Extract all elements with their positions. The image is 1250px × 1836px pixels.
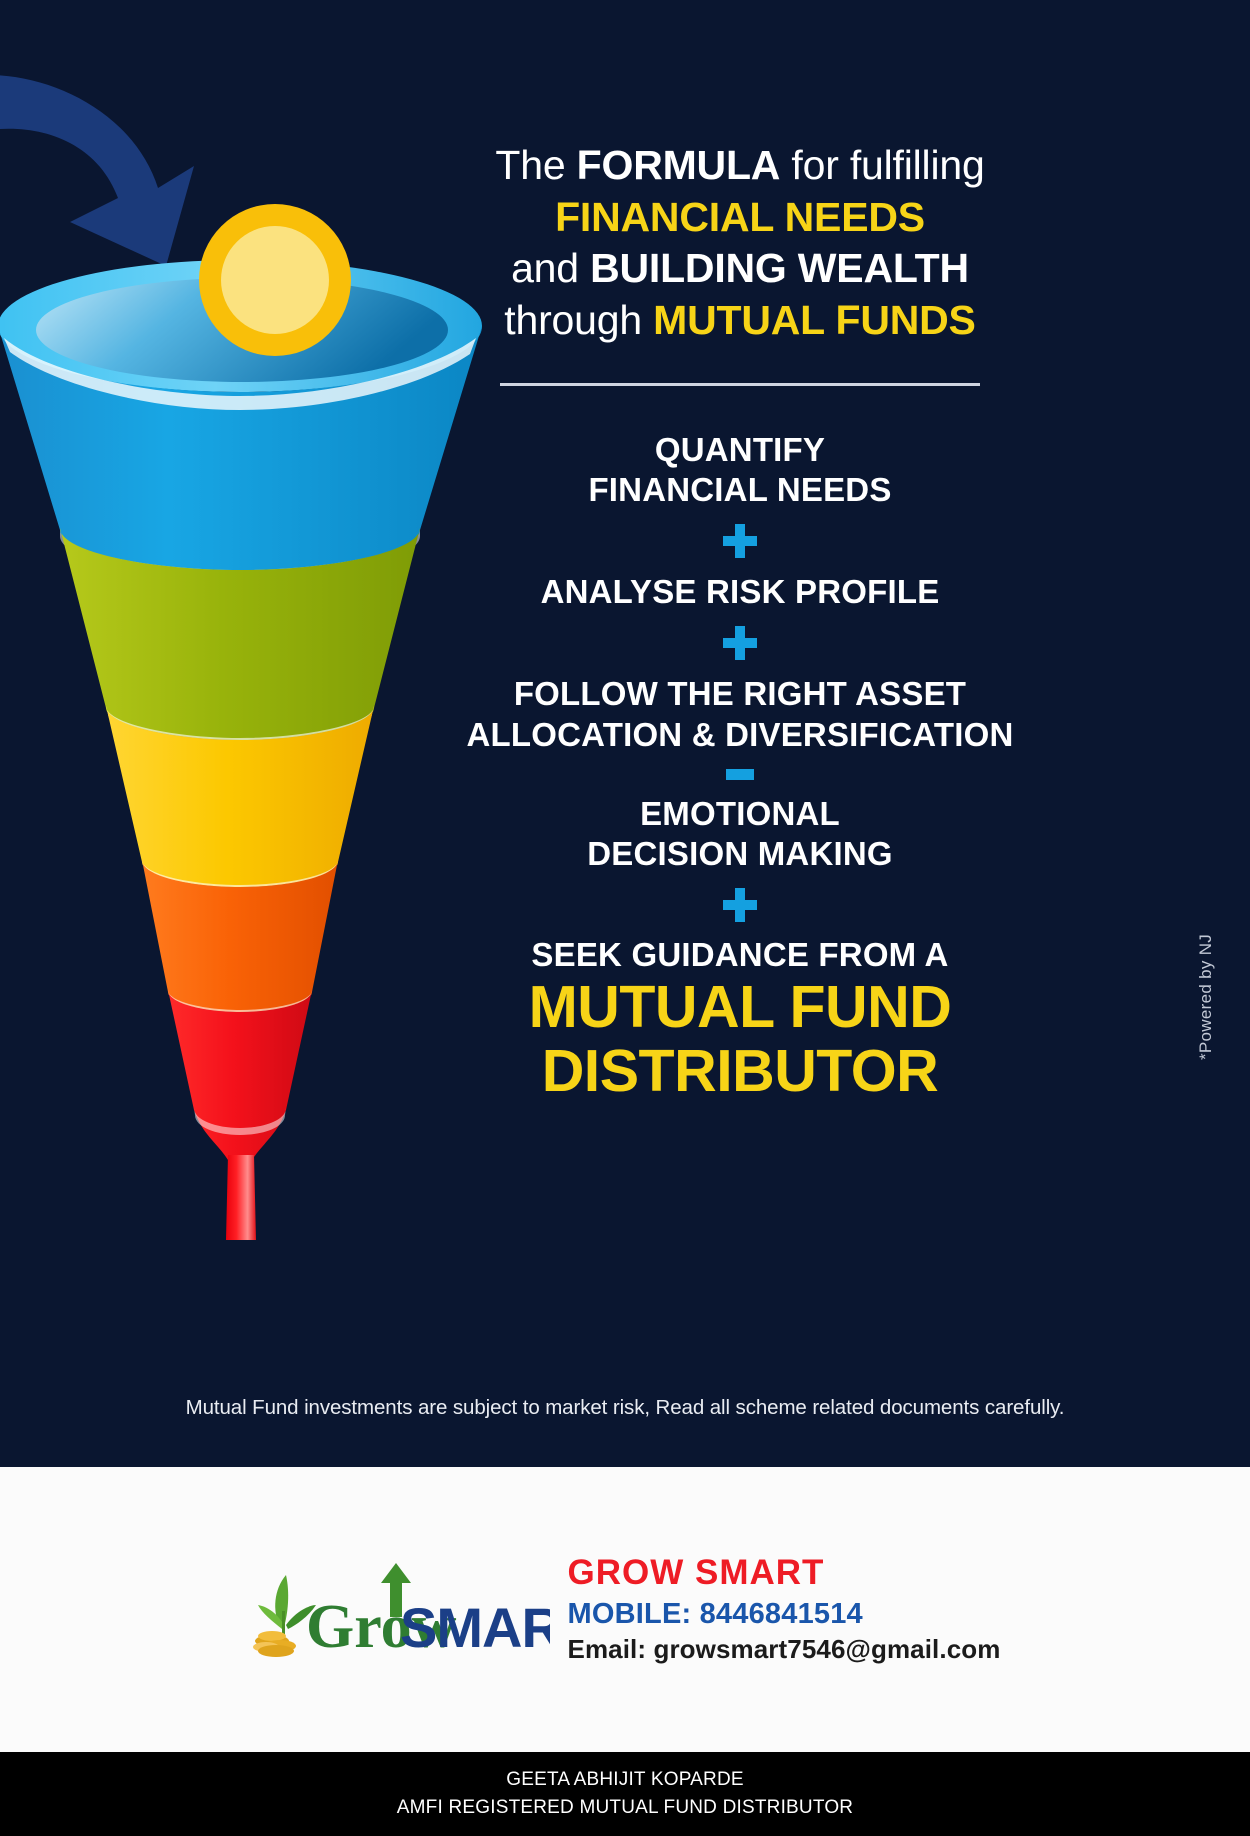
funnel-graphic	[0, 230, 490, 1240]
gold-coin-icon	[195, 200, 355, 360]
hero-section: The FORMULA for fulfilling FINANCIAL NEE…	[0, 0, 1250, 1467]
minus-icon	[726, 769, 754, 780]
headline-financial-needs: FINANCIAL NEEDS	[555, 194, 925, 240]
step-line: FINANCIAL NEEDS	[430, 470, 1050, 510]
final-distributor: MUTUAL FUND DISTRIBUTOR	[430, 976, 1050, 1103]
contact-brand-name: GROW SMART	[568, 1555, 1001, 1592]
headline-line-3: and BUILDING WEALTH	[430, 243, 1050, 295]
footer-contact-band: Grow SMART GROW SMART MOBILE: 8446841514…	[0, 1467, 1250, 1752]
powered-by-label: *Powered by NJ	[1196, 934, 1216, 1060]
step-line: EMOTIONAL	[430, 794, 1050, 834]
step-line: ALLOCATION & DIVERSIFICATION	[430, 715, 1050, 755]
contact-mobile[interactable]: MOBILE: 8446841514	[568, 1599, 1001, 1629]
headline-line-2: FINANCIAL NEEDS	[430, 192, 1050, 244]
plus-icon	[723, 626, 757, 660]
step-asset-allocation: FOLLOW THE RIGHT ASSET ALLOCATION & DIVE…	[430, 674, 1050, 755]
final-line: DISTRIBUTOR	[430, 1040, 1050, 1104]
contact-details: GROW SMART MOBILE: 8446841514 Email: gro…	[568, 1555, 1001, 1663]
headline: The FORMULA for fulfilling FINANCIAL NEE…	[430, 140, 1050, 347]
growsmart-logo: Grow SMART	[250, 1555, 550, 1665]
step-line: DECISION MAKING	[430, 834, 1050, 874]
headline-the: The	[495, 142, 576, 188]
poster-root: The FORMULA for fulfilling FINANCIAL NEE…	[0, 0, 1250, 1836]
plus-icon	[723, 524, 757, 558]
plus-icon	[723, 888, 757, 922]
step-line: FOLLOW THE RIGHT ASSET	[430, 674, 1050, 714]
step-quantify-financial-needs: QUANTIFY FINANCIAL NEEDS	[430, 430, 1050, 511]
hero-content: The FORMULA for fulfilling FINANCIAL NEE…	[430, 140, 1050, 1104]
headline-divider	[500, 383, 980, 386]
final-seek-guidance: SEEK GUIDANCE FROM A	[430, 936, 1050, 974]
step-analyse-risk-profile: ANALYSE RISK PROFILE	[430, 572, 1050, 612]
headline-through: through	[504, 297, 653, 343]
contact-email[interactable]: Email: growsmart7546@gmail.com	[568, 1636, 1001, 1663]
step-line: QUANTIFY	[430, 430, 1050, 470]
headline-line-1: The FORMULA for fulfilling	[430, 140, 1050, 192]
formula-steps: QUANTIFY FINANCIAL NEEDS ANALYSE RISK PR…	[430, 430, 1050, 1104]
risk-disclaimer: Mutual Fund investments are subject to m…	[0, 1396, 1250, 1420]
headline-line-4: through MUTUAL FUNDS	[430, 295, 1050, 347]
final-line: MUTUAL FUND	[430, 976, 1050, 1040]
headline-mutual-funds: MUTUAL FUNDS	[653, 297, 976, 343]
headline-formula: FORMULA	[577, 142, 781, 188]
distributor-name: GEETA ABHIJIT KOPARDE	[506, 1766, 744, 1794]
distributor-registration: AMFI REGISTERED MUTUAL FUND DISTRIBUTOR	[397, 1794, 853, 1822]
logo-word-smart: SMART	[400, 1596, 550, 1659]
headline-building-wealth: BUILDING WEALTH	[590, 245, 969, 291]
step-emotional-decision-making: EMOTIONAL DECISION MAKING	[430, 794, 1050, 875]
step-line: ANALYSE RISK PROFILE	[430, 572, 1050, 612]
headline-and: and	[511, 245, 590, 291]
legal-footer-band: GEETA ABHIJIT KOPARDE AMFI REGISTERED MU…	[0, 1752, 1250, 1836]
headline-for-fulfilling: for fulfilling	[780, 142, 984, 188]
